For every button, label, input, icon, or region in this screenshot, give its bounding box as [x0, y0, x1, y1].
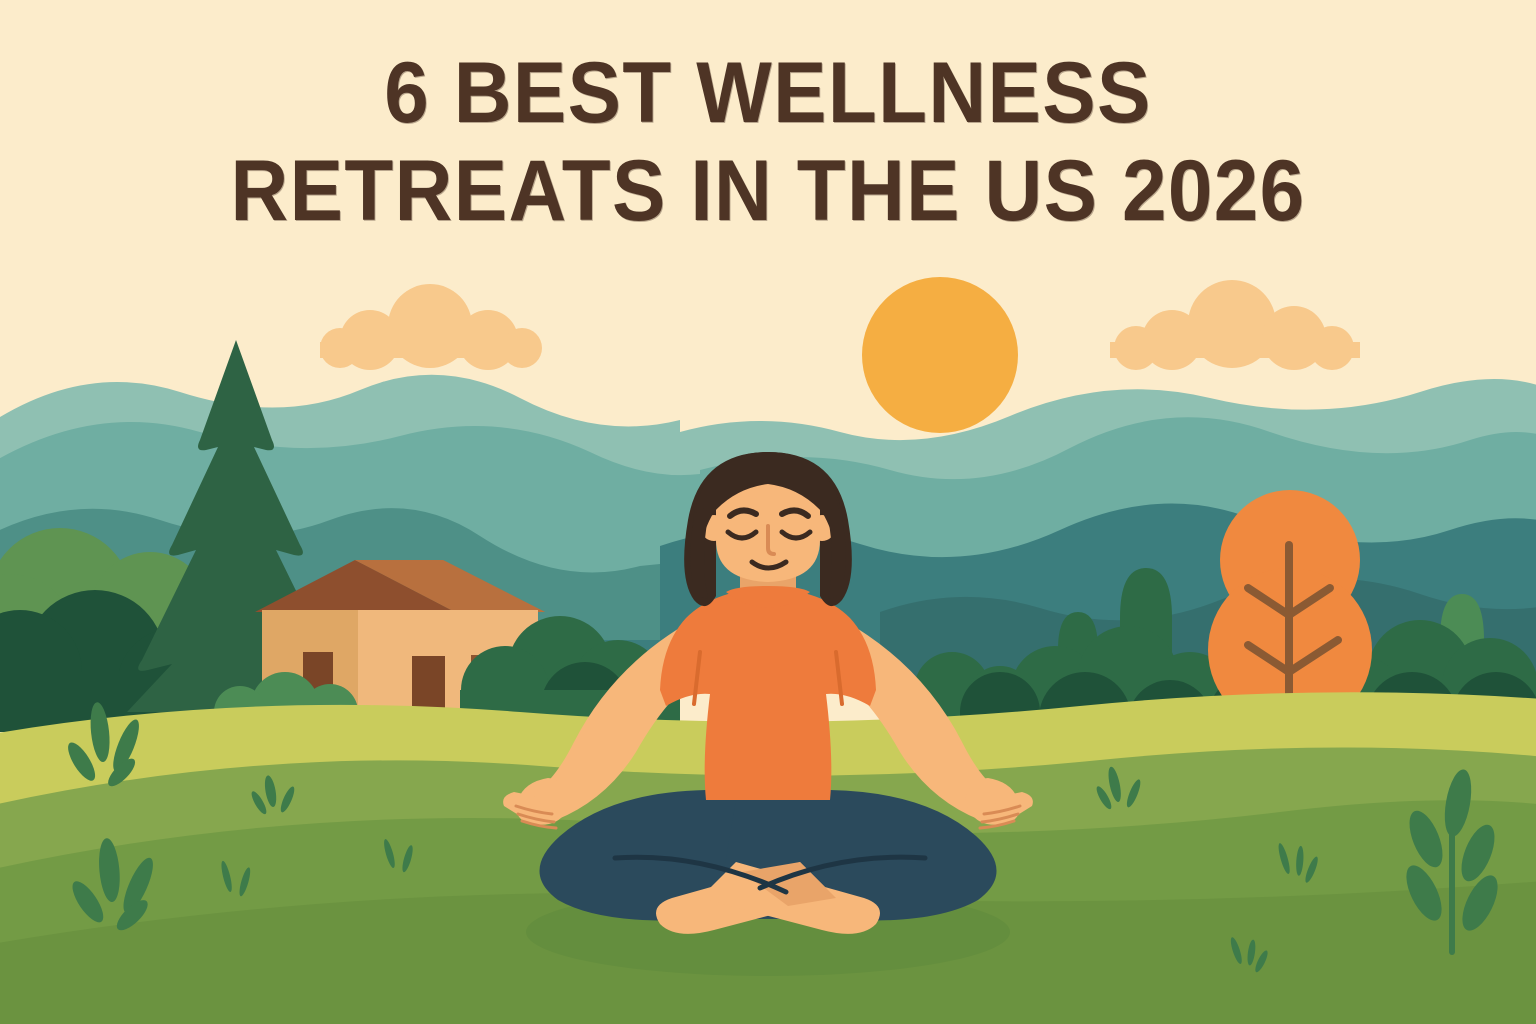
wellness-retreat-banner: 6 BEST WELLNESS RETREATS IN THE US 2026	[0, 0, 1536, 1024]
illustration-scene	[0, 0, 1536, 1024]
sun-icon	[862, 277, 1018, 433]
cabin-front-door	[412, 656, 445, 714]
